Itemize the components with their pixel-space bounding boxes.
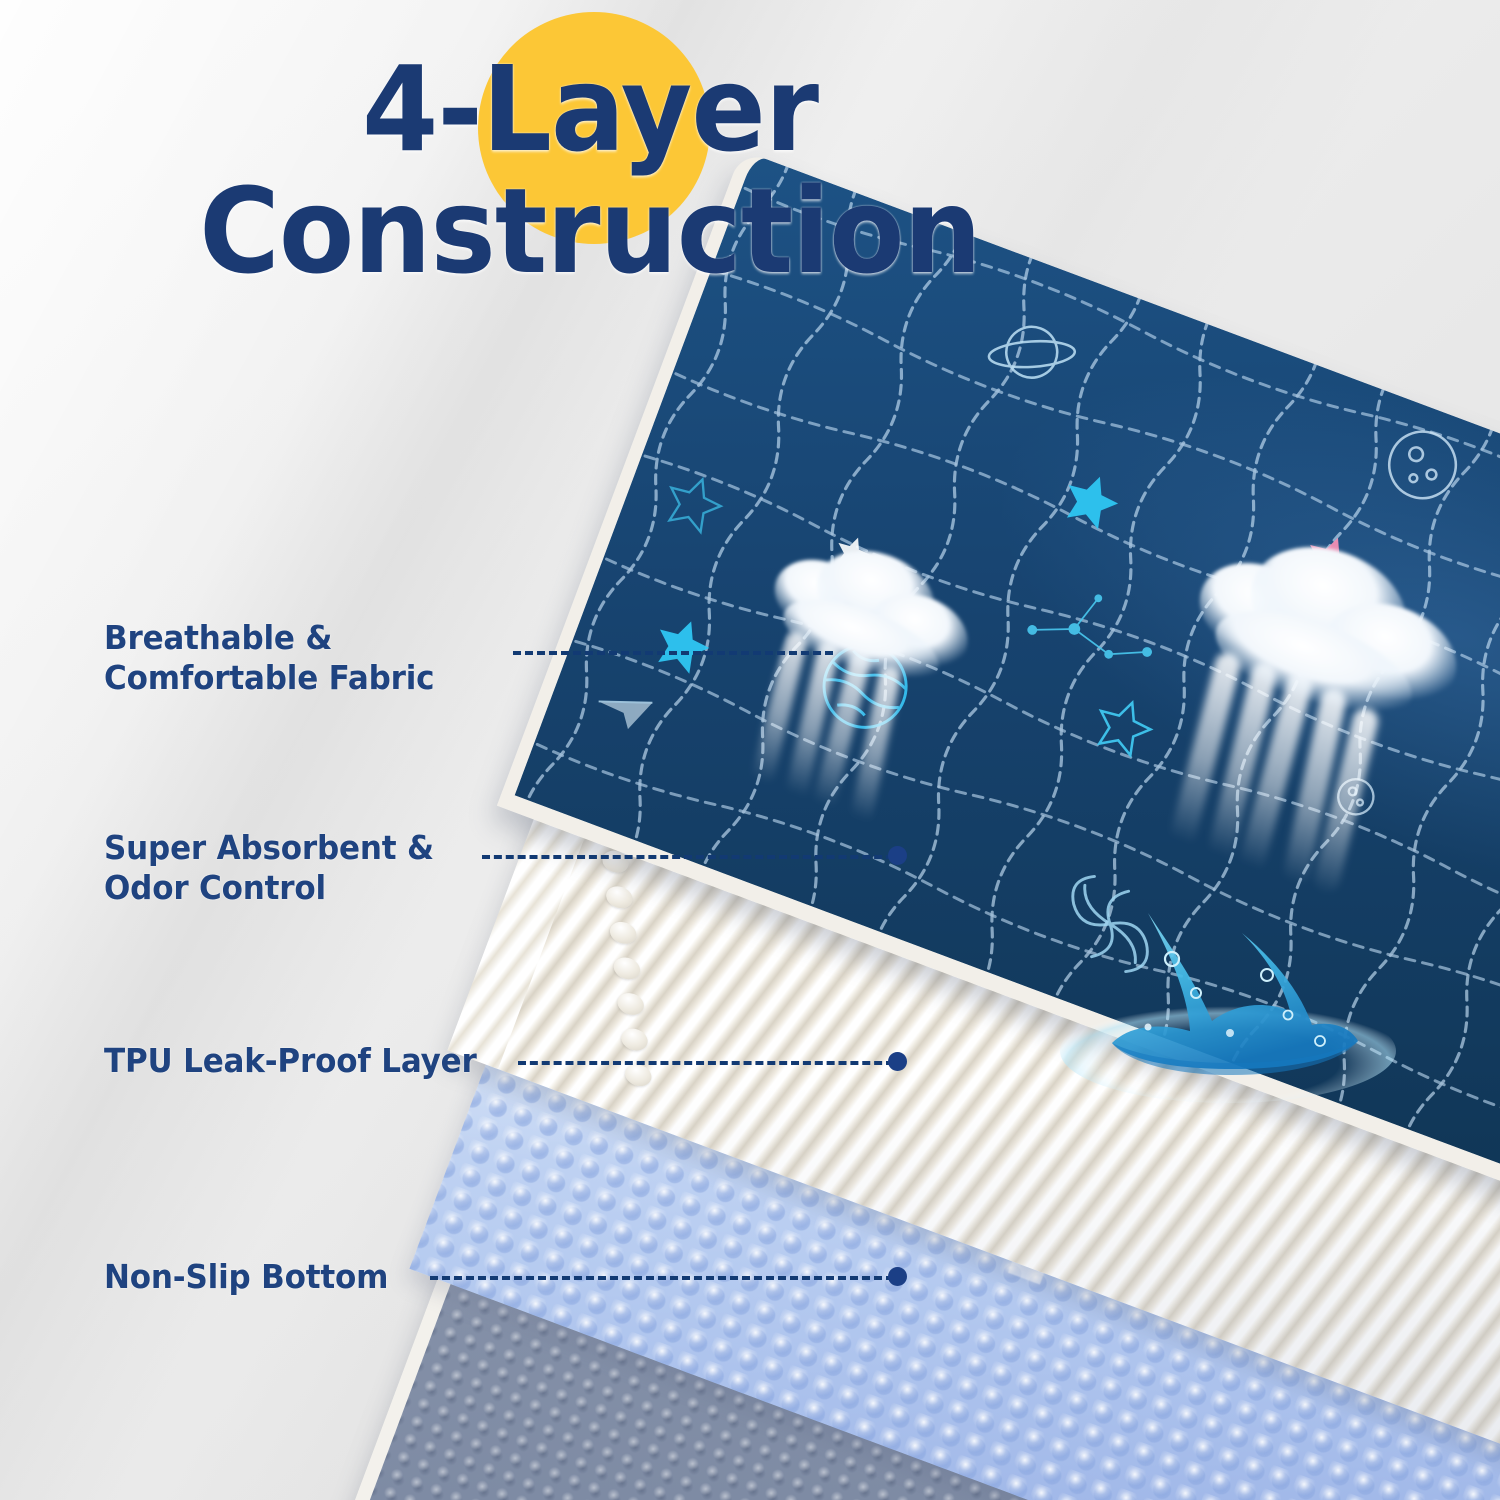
title-badge-circle bbox=[478, 12, 710, 244]
label-non-slip-bottom: Non-Slip Bottom bbox=[104, 1257, 388, 1297]
fiber-cap bbox=[611, 954, 644, 983]
label-super-absorbent: Super Absorbent & Odor Control bbox=[104, 828, 434, 909]
fiber-cap bbox=[607, 918, 640, 947]
fiber-cap bbox=[618, 1025, 651, 1054]
leader-dot-tpu bbox=[888, 1052, 907, 1071]
label-breathable-fabric: Breathable & Comfortable Fabric bbox=[104, 618, 434, 699]
leader-line-tpu bbox=[518, 1061, 894, 1065]
leader-line-non-slip bbox=[430, 1276, 894, 1280]
leader-line-super-absorbent bbox=[482, 855, 894, 859]
leader-line-breathable-fabric bbox=[513, 651, 833, 655]
fiber-cap bbox=[614, 989, 647, 1018]
fiber-cap bbox=[603, 883, 636, 912]
infographic-canvas: 4-Layer Construction Breathable & Comfor… bbox=[0, 0, 1500, 1500]
leader-dot-non-slip bbox=[888, 1267, 907, 1286]
label-tpu-leak-proof: TPU Leak-Proof Layer bbox=[104, 1041, 477, 1081]
leader-dot-super-absorbent bbox=[888, 846, 907, 865]
